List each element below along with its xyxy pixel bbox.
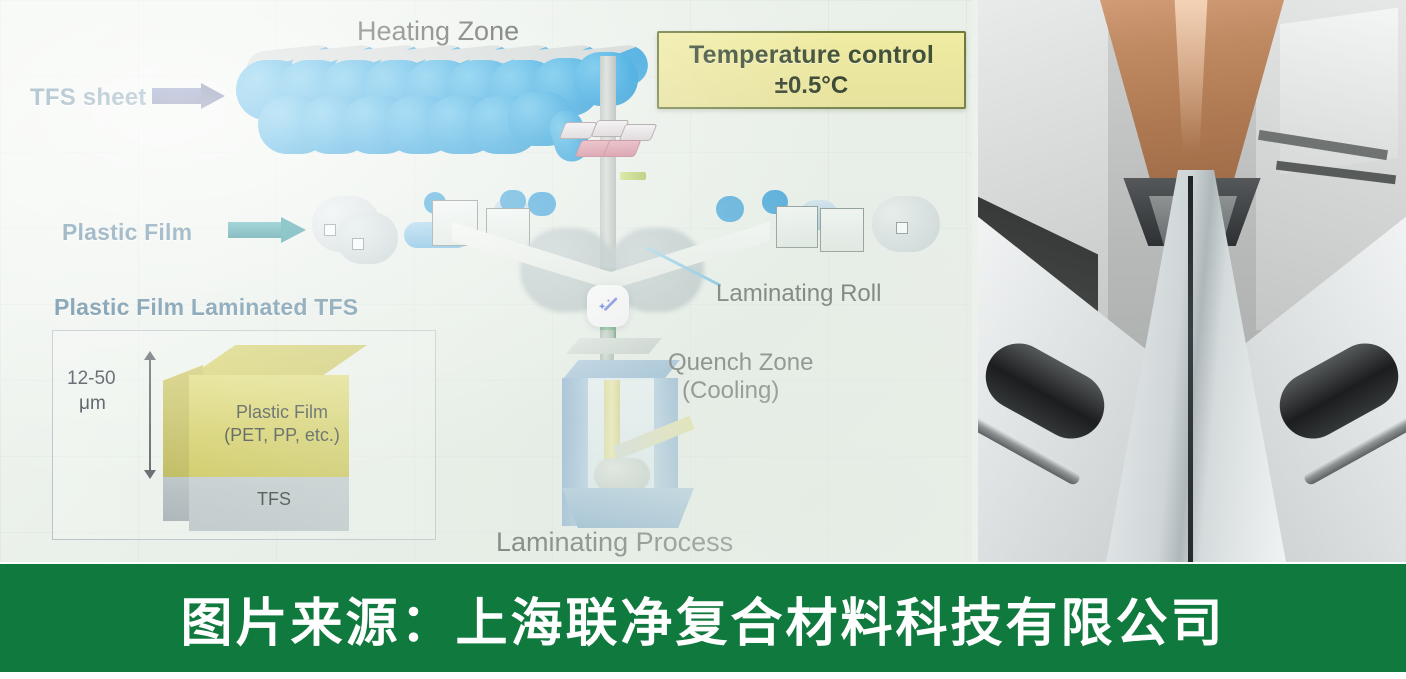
web-left — [452, 222, 612, 290]
photo-film-crease — [1188, 176, 1193, 562]
cube-film-sub: (PET, PP, etc.) — [224, 425, 340, 445]
tfs-sheet-arrow-icon — [152, 83, 225, 109]
thickness-label: 12-50 μm — [67, 367, 145, 416]
cube-top-face — [189, 345, 367, 377]
film-unwind-roll-core — [352, 238, 364, 250]
film-web-plate — [820, 208, 864, 252]
film-unwind-roll — [336, 212, 398, 264]
arrow-head — [201, 83, 225, 109]
heating-zone-label: Heating Zone — [357, 16, 519, 47]
laminating-process-label: Laminating Process — [496, 527, 733, 558]
cube-film-name: Plastic Film — [236, 402, 328, 422]
source-banner: 图片来源：上海联净复合材料科技有限公司 — [0, 564, 1406, 672]
guide-roller — [528, 192, 556, 216]
screenshot-root: Heating Zone TFS sheet Plastic Film Plas… — [0, 0, 1406, 679]
sensor-head — [603, 140, 642, 157]
thickness-value: 12-50 — [67, 368, 116, 389]
tfs-sheet-label: TFS sheet — [30, 84, 147, 112]
laminated-tfs-title: Plastic Film Laminated TFS — [54, 294, 358, 321]
laminated-cube: Plastic Film (PET, PP, etc.) TFS — [163, 345, 367, 531]
thickness-unit: μm — [79, 392, 145, 417]
sensor-head — [619, 124, 658, 141]
film-unwind-roll-core — [896, 222, 908, 234]
machine-photo — [978, 0, 1406, 562]
tank-bottom — [562, 488, 694, 528]
bottom-white-strip — [0, 672, 1406, 679]
arrow-head — [281, 217, 306, 243]
thickness-dimension-arrow-icon — [149, 359, 151, 471]
quench-zone-subtitle: (Cooling) — [682, 377, 813, 405]
film-unwind-roll-core — [324, 224, 336, 236]
quench-zone-title: Quench Zone — [668, 349, 813, 376]
tank-exit-roller — [594, 458, 650, 492]
arrow-shaft — [152, 88, 203, 104]
temperature-control-value: ±0.5°C — [775, 72, 848, 100]
tank-top-rim — [562, 360, 680, 380]
magic-wand-sparkle-icon[interactable] — [587, 285, 629, 327]
laminating-process-diagram: Heating Zone TFS sheet Plastic Film Plas… — [0, 0, 975, 562]
arrow-shaft — [228, 222, 284, 238]
green-indicator — [620, 172, 646, 180]
tank-shelf — [566, 338, 662, 354]
plastic-film-arrow-icon — [228, 217, 306, 243]
cube-film-label: Plastic Film (PET, PP, etc.) — [207, 401, 357, 446]
laminated-tfs-inset: 12-50 μm Plastic Film (PET, PP, etc.) TF… — [52, 330, 436, 540]
quench-zone-label: Quench Zone (Cooling) — [668, 349, 813, 406]
temperature-control-box: Temperature control ±0.5°C — [657, 31, 966, 109]
plastic-film-label: Plastic Film — [62, 219, 192, 246]
film-web-plate — [776, 206, 818, 248]
temperature-control-title: Temperature control — [689, 41, 934, 70]
cube-tfs-label: TFS — [199, 489, 349, 510]
laminating-roll-label: Laminating Roll — [716, 280, 881, 308]
source-banner-text: 图片来源：上海联净复合材料科技有限公司 — [180, 581, 1225, 656]
guide-roller — [716, 196, 744, 222]
